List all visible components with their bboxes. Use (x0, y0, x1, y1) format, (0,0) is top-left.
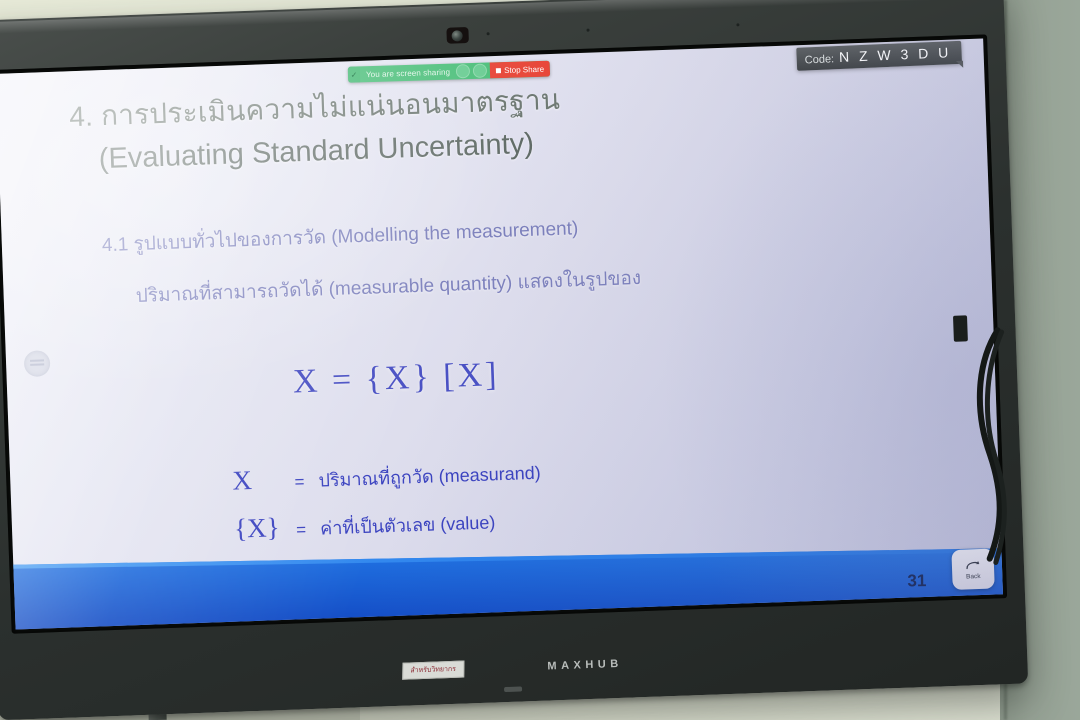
definition-symbol: {X} (234, 511, 297, 544)
stop-share-label: Stop Share (504, 64, 544, 74)
check-icon: ✓ (348, 66, 360, 82)
brand-logo: MAXHUB (547, 657, 623, 672)
slide-title-block: 4. การประเมินความไม่แน่นอนมาตรฐาน (Evalu… (69, 68, 831, 177)
slide-footer-band (0, 546, 1003, 629)
maxhub-interactive-display: 4. การประเมินความไม่แน่นอนมาตรฐาน (Evalu… (0, 0, 1028, 720)
badge-corner-fold (956, 61, 963, 68)
ir-sensor-dot (487, 32, 490, 35)
formula-expression: X = {X} [X] (292, 356, 500, 401)
webcam-icon (446, 27, 469, 44)
list-item: X = ปริมาณที่ถูกวัด (measurand) (232, 455, 541, 498)
code-label: Code: (805, 53, 835, 66)
ir-receiver-slot (504, 686, 522, 692)
cable-bundle (945, 314, 1025, 606)
display-bezel: 4. การประเมินความไม่แน่นอนมาตรฐาน (Evalu… (0, 0, 1028, 720)
sticker-text: สำหรับวิทยากร (410, 666, 456, 675)
section-detail-text: ปริมาณที่สามารถวัดได้ (measurable quanti… (135, 263, 641, 311)
display-screen[interactable]: 4. การประเมินความไม่แน่นอนมาตรฐาน (Evalu… (0, 39, 1003, 630)
section-heading-4-1: 4.1 รูปแบบทั่วไปของการวัด (Modelling the… (101, 213, 578, 260)
camera-icon[interactable] (473, 64, 487, 78)
presentation-slide: 4. การประเมินความไม่แน่นอนมาตรฐาน (Evalu… (0, 39, 1003, 630)
definition-text: ปริมาณที่ถูกวัด (measurand) (318, 458, 541, 495)
code-value: N Z W 3 D U (839, 44, 952, 65)
share-status-label: You are screen sharing (360, 67, 456, 79)
list-item: {X} = ค่าที่เป็นตัวเลข (value) (234, 503, 543, 546)
definition-equals: = (294, 472, 319, 493)
definition-equals: = (296, 520, 321, 541)
stop-share-button[interactable]: Stop Share (490, 61, 550, 79)
room-scene: 4. การประเมินความไม่แน่นอนมาตรฐาน (Evalu… (0, 0, 1080, 720)
cable-clip (953, 315, 968, 341)
ir-sensor-dot (586, 29, 589, 32)
ir-sensor-dot (736, 23, 739, 26)
definition-text: ค่าที่เป็นตัวเลข (value) (320, 507, 496, 542)
slide-page-number: 31 (907, 571, 926, 591)
stop-square-icon (496, 68, 501, 73)
definition-symbol: X (232, 463, 295, 496)
presenter-sticker: สำหรับวิทยากร (402, 661, 464, 680)
cables-icon (945, 314, 1025, 606)
microphone-icon[interactable] (456, 64, 470, 78)
